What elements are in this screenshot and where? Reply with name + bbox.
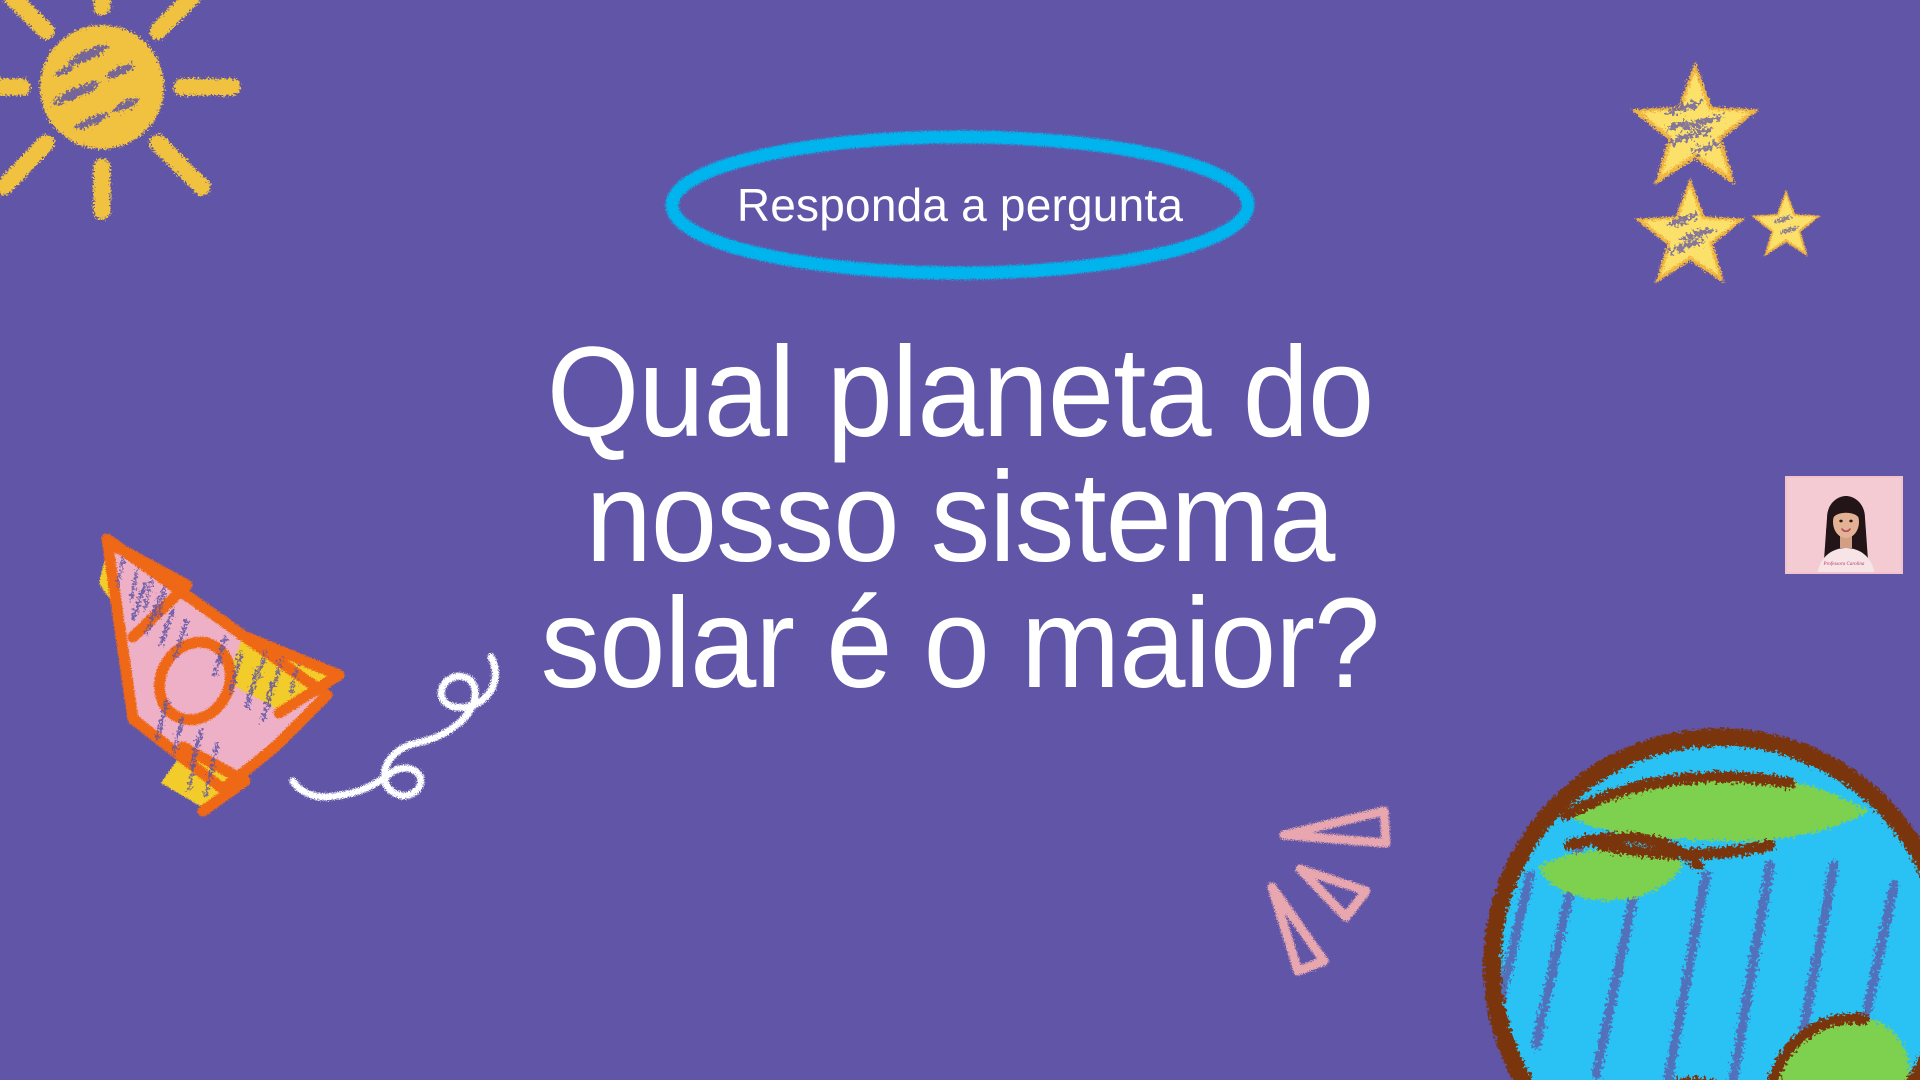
rocket-icon <box>75 525 385 815</box>
branding-photo-card: www.professoracarolinapalhas.com @caroli… <box>1785 476 1903 574</box>
question-line-2: nosso sistema <box>374 455 1546 580</box>
star-small-icon <box>1748 186 1824 262</box>
star-large-icon <box>1625 55 1765 195</box>
shirt-text: Professora Carolina <box>1787 562 1901 567</box>
question-line-3: solar é o maior? <box>374 581 1546 706</box>
question-text: Qual planeta do nosso sistema solar é o … <box>374 330 1546 706</box>
question-line-1: Qual planeta do <box>374 330 1546 455</box>
avatar-portrait <box>1787 478 1903 574</box>
sun-icon <box>0 0 300 275</box>
earth-planet-icon <box>1470 715 1920 1080</box>
star-medium-icon <box>1630 172 1750 292</box>
header-label: Responda a pergunta <box>660 125 1260 285</box>
shooting-stars-icon <box>1280 795 1460 995</box>
header-badge: Responda a pergunta <box>660 125 1260 285</box>
slide-canvas: Responda a pergunta Qual planeta do noss… <box>0 0 1920 1080</box>
